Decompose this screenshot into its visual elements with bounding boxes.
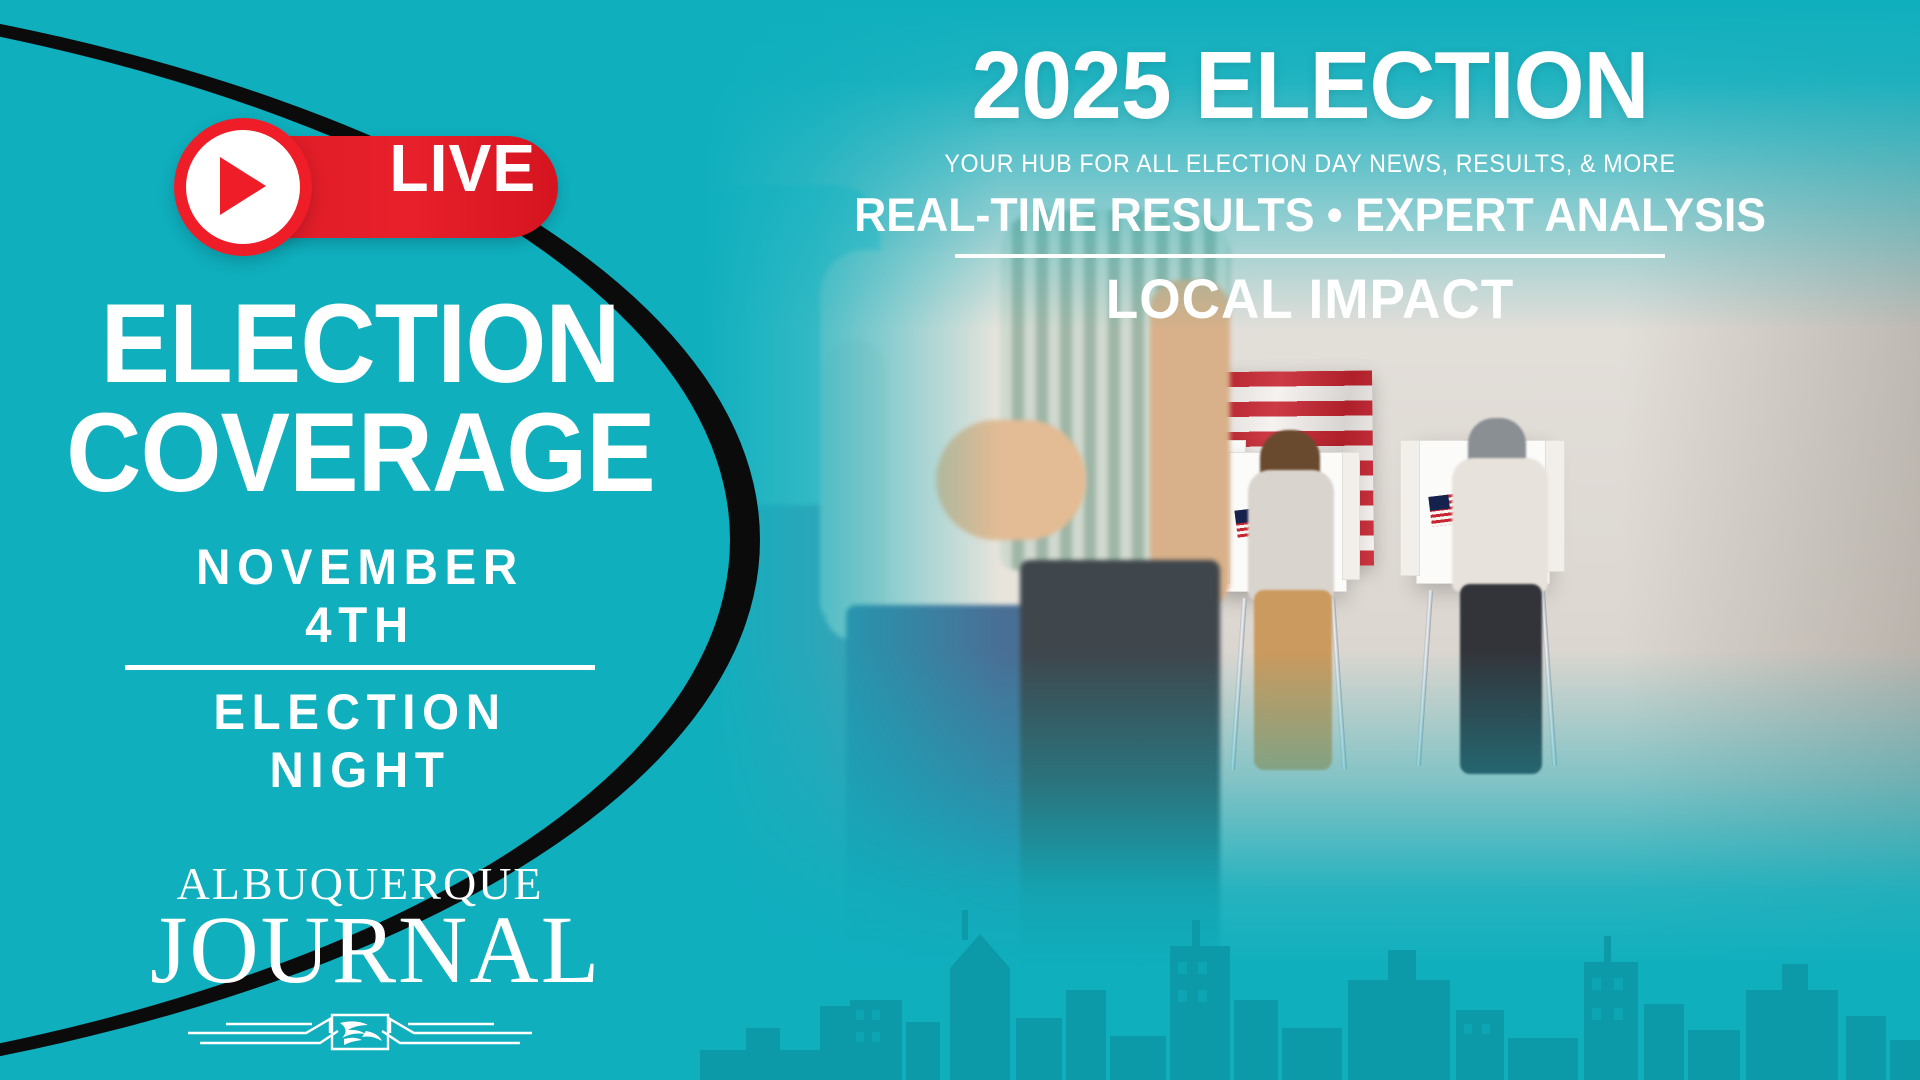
headline-line-2: COVERAGE — [66, 401, 655, 504]
voter-figure — [1452, 458, 1548, 592]
play-icon[interactable] — [174, 118, 312, 256]
voter-figure — [1248, 470, 1334, 600]
logo-main-word: JOURNAL — [150, 903, 570, 997]
albuquerque-journal-logo: ALBUQUERQUE JOURNAL — [150, 861, 570, 1064]
winged-emblem-icon — [180, 1003, 540, 1059]
main-title: 2025 ELECTION — [731, 38, 1890, 134]
tagline-divider — [955, 254, 1665, 258]
event-line: ELECTION NIGHT — [137, 683, 584, 799]
right-headline-block: 2025 ELECTION YOUR HUB FOR ALL ELECTION … — [700, 38, 1920, 331]
subtitle: YOUR HUB FOR ALL ELECTION DAY NEWS, RESU… — [743, 150, 1878, 179]
local-impact-label: LOCAL IMPACT — [731, 266, 1890, 331]
date-block: NOVEMBER 4TH ELECTION NIGHT — [125, 538, 595, 799]
divider-rule — [125, 665, 595, 670]
election-coverage-graphic: TE VOTE VOTE — [0, 0, 1920, 1080]
headline-line-1: ELECTION — [100, 292, 619, 395]
tagline: REAL-TIME RESULTS • EXPERT ANALYSIS — [731, 187, 1890, 242]
date-line: NOVEMBER 4TH — [137, 538, 584, 654]
live-badge[interactable]: LIVE — [150, 118, 570, 256]
